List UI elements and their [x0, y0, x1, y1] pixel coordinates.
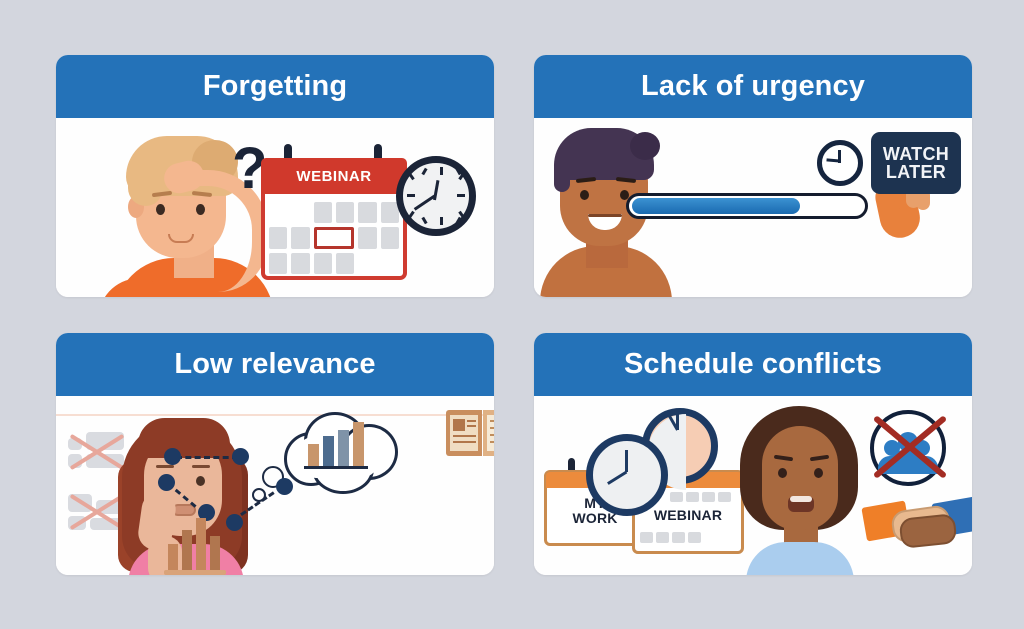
- person-sideburn: [554, 158, 570, 192]
- person-shoulder: [94, 276, 159, 297]
- calendar-grid: [269, 202, 399, 274]
- clock-icon-primary: [586, 434, 668, 516]
- clock-icon: [817, 140, 863, 186]
- progress-bar-fill: [632, 198, 800, 214]
- card-header: Lack of urgency: [534, 55, 972, 118]
- card-header: Low relevance: [56, 333, 494, 396]
- woman-eye-left: [778, 468, 787, 478]
- card-forgetting[interactable]: Forgetting ? WEBINAR: [56, 55, 494, 297]
- woman-eye-right: [814, 468, 823, 478]
- woman-face: [762, 426, 838, 530]
- card-lack-of-urgency[interactable]: Lack of urgency WATCH: [534, 55, 972, 297]
- thought-bubble-icon: [278, 410, 398, 492]
- network-dot-5: [226, 514, 243, 531]
- clock-hour-hand: [625, 450, 628, 472]
- bar-chart-icon: [164, 514, 226, 574]
- card-illustration: WATCH LATER: [534, 118, 972, 297]
- card-low-relevance[interactable]: Low relevance: [56, 333, 494, 575]
- watch-later-button[interactable]: WATCH LATER: [871, 132, 961, 194]
- person-eye-left: [580, 190, 589, 200]
- woman-bangs: [138, 418, 230, 458]
- network-dot-2: [232, 448, 249, 465]
- card-title: Forgetting: [203, 70, 347, 103]
- person-eye-left: [156, 204, 165, 215]
- handshake-hand-dark: [899, 513, 958, 549]
- bar-chart-icon: [308, 444, 319, 466]
- woman-teeth: [790, 496, 812, 502]
- card-schedule-conflicts[interactable]: Schedule conflicts MY WORK WEBINAR: [534, 333, 972, 575]
- woman-shirt: [746, 542, 854, 575]
- watch-later-line-2: LATER: [886, 163, 946, 181]
- woman-eyebrow-left: [156, 465, 174, 468]
- card-title: Lack of urgency: [641, 70, 865, 103]
- network-dot-3: [158, 474, 175, 491]
- person-hair-curl: [630, 132, 660, 160]
- person-sideburn: [128, 166, 162, 206]
- network-dot-1: [164, 448, 181, 465]
- card-illustration: MY WORK WEBINAR: [534, 396, 972, 575]
- card-header: Forgetting: [56, 55, 494, 118]
- crossed-out-document-icon: [68, 430, 126, 474]
- card-grid-board: Forgetting ? WEBINAR: [0, 0, 1024, 629]
- divider-line: [56, 414, 494, 416]
- woman-eyebrow-right: [192, 465, 210, 468]
- person-lip-line: [588, 214, 622, 217]
- open-book-icon: [446, 410, 494, 460]
- calendar-label: WEBINAR: [261, 158, 407, 194]
- network-dot-6: [276, 478, 293, 495]
- card-illustration: ? WEBINAR: [56, 118, 494, 297]
- network-link-1: [176, 456, 238, 459]
- card-illustration: [56, 396, 494, 575]
- watch-later-line-1: WATCH: [883, 145, 949, 163]
- card-title: Low relevance: [174, 348, 375, 381]
- calendar-label-webinar: WEBINAR: [632, 508, 744, 523]
- woman-eye-right: [196, 476, 205, 486]
- card-title: Schedule conflicts: [624, 348, 882, 381]
- card-header: Schedule conflicts: [534, 333, 972, 396]
- calendar-selected-date: [314, 227, 355, 248]
